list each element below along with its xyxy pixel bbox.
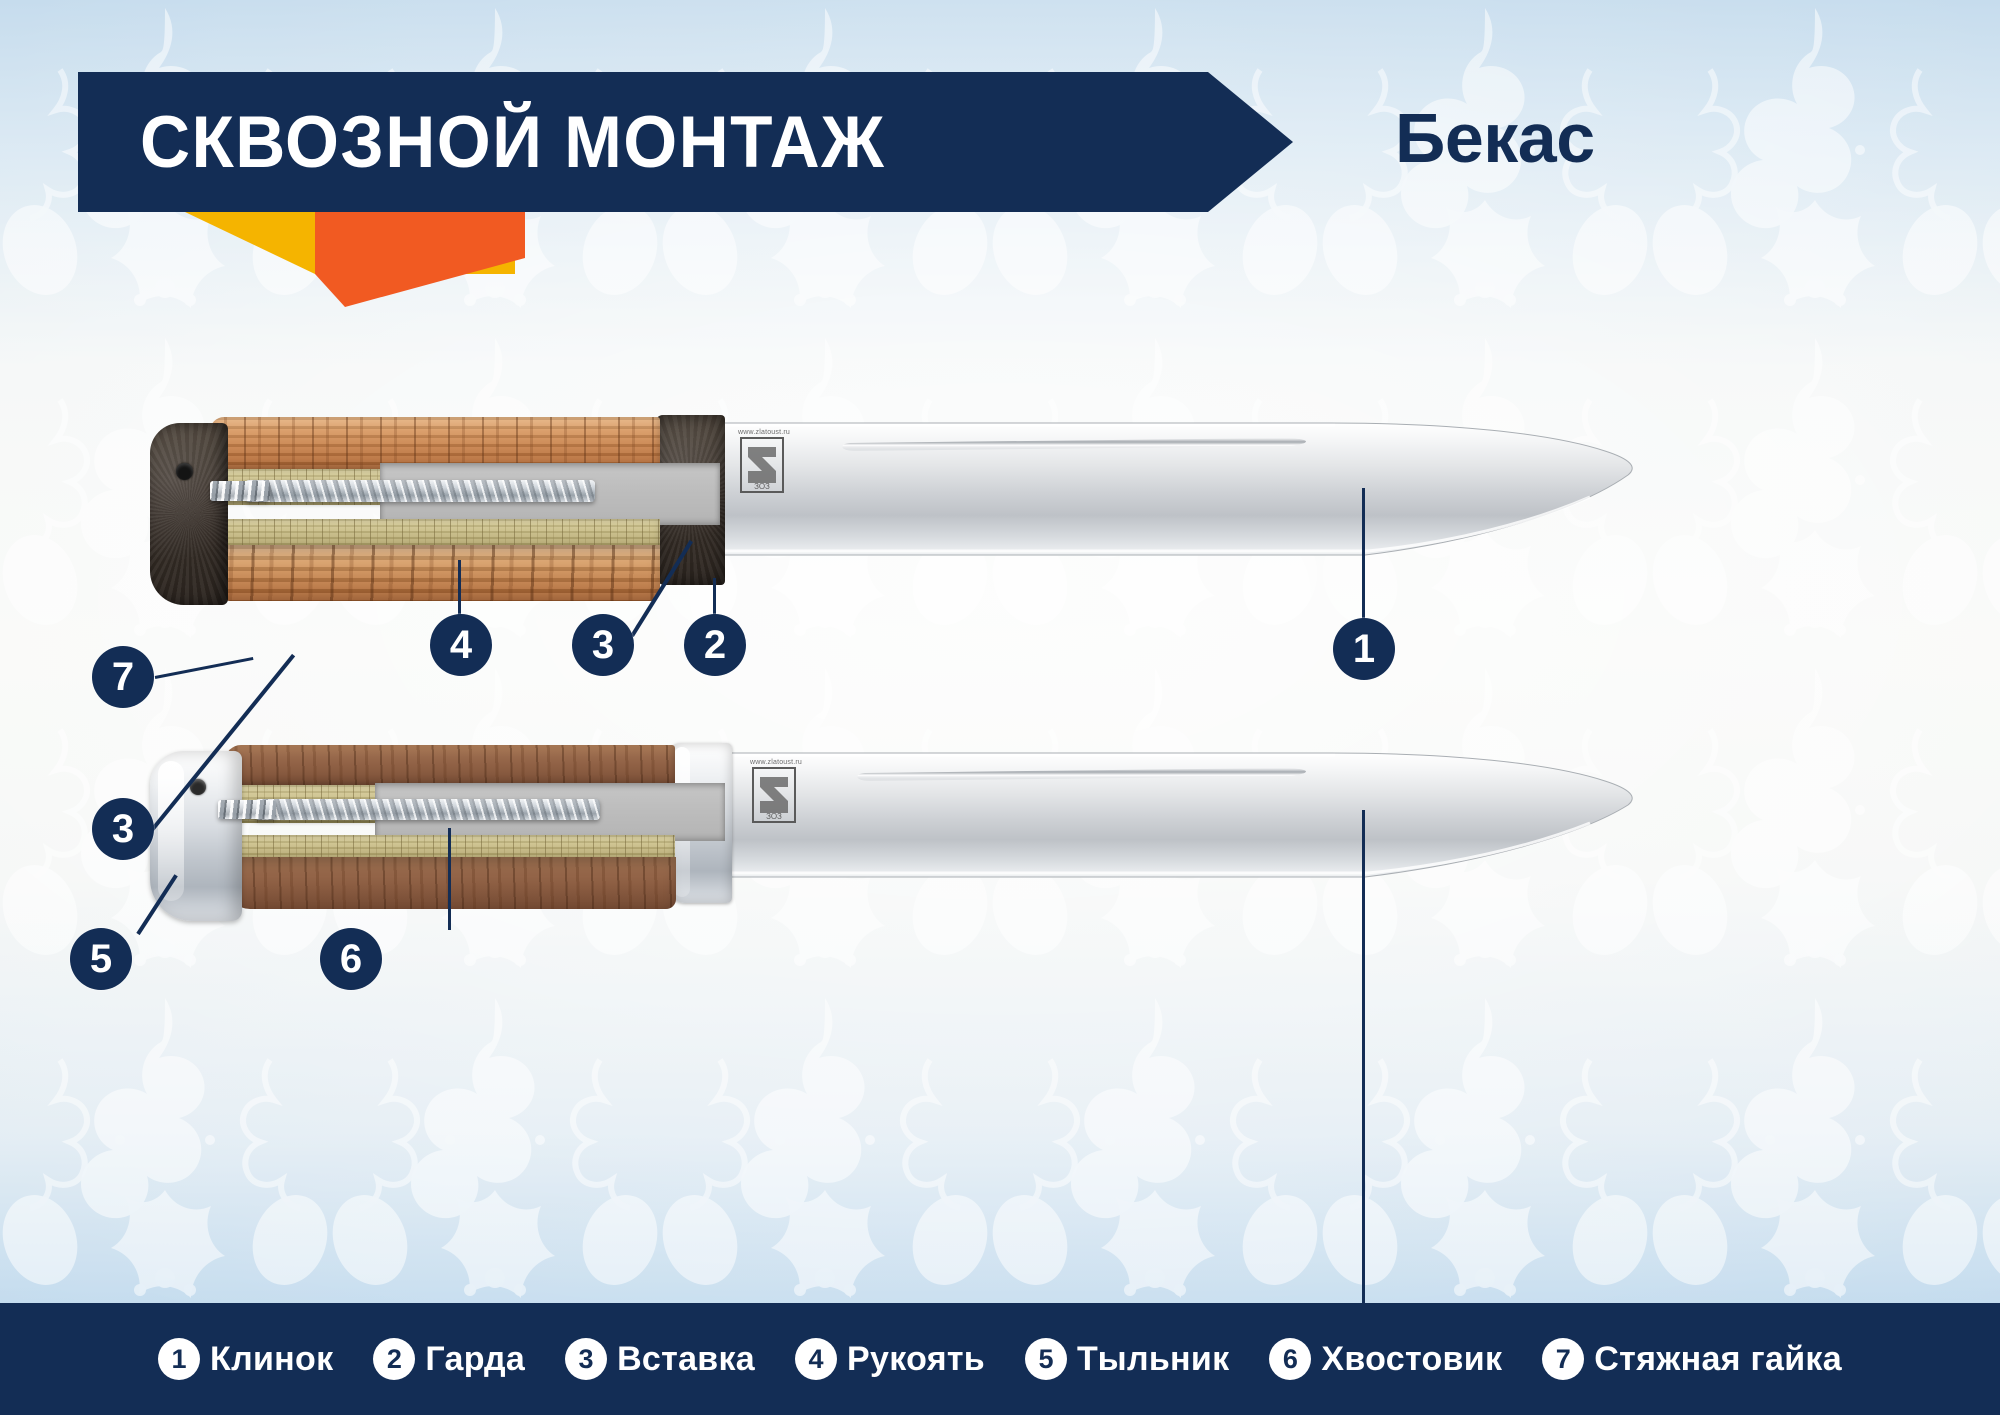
handle-bottom-lower-wood — [228, 857, 676, 909]
title-banner: СКВОЗНОЙ МОНТАЖ — [78, 72, 1293, 212]
legend-item-5[interactable]: 5 Тыльник — [1025, 1338, 1229, 1380]
legend-label-1: Клинок — [210, 1340, 333, 1379]
legend-number-1: 1 — [158, 1338, 200, 1380]
zlatoust-logo-stamp-bottom: ЗОЗ — [752, 767, 796, 823]
pommel-top — [150, 423, 228, 605]
legend-label-5: Тыльник — [1077, 1340, 1229, 1379]
blade-bottom-logo-url: www.zlatoust.ru — [750, 759, 802, 766]
callout-3-left[interactable]: 3 — [92, 798, 154, 860]
legend-label-4: Рукоять — [847, 1340, 985, 1379]
legend-number-5: 5 — [1025, 1338, 1067, 1380]
callout-3-right[interactable]: 3 — [572, 614, 634, 676]
leader-line-1-top-vert — [1362, 488, 1365, 628]
callout-6[interactable]: 6 — [320, 928, 382, 990]
handle-top-lower-bark — [212, 545, 660, 601]
tang-rod-top — [245, 480, 595, 502]
legend-item-6[interactable]: 6 Хвостовик — [1269, 1338, 1502, 1380]
legend-number-4: 4 — [795, 1338, 837, 1380]
legend-number-6: 6 — [1269, 1338, 1311, 1380]
legend-label-2: Гарда — [425, 1340, 525, 1379]
zlatoust-logo-stamp-top: ЗОЗ — [740, 437, 784, 493]
legend-number-2: 2 — [373, 1338, 415, 1380]
banner-title: СКВОЗНОЙ МОНТАЖ — [140, 101, 885, 184]
legend-bar: 1 Клинок 2 Гарда 3 Вставка 4 Рукоять 5 Т… — [0, 1303, 2000, 1415]
svg-text:ЗОЗ: ЗОЗ — [754, 482, 770, 491]
callout-7[interactable]: 7 — [92, 646, 154, 708]
legend-item-4[interactable]: 4 Рукоять — [795, 1338, 985, 1380]
leader-line-6-vert — [448, 828, 451, 930]
callout-1-top[interactable]: 1 — [1333, 618, 1395, 680]
knife-bottom: www.zlatoust.ru ЗОЗ — [150, 735, 1930, 945]
pommel-hole-top — [176, 463, 193, 480]
legend-item-1[interactable]: 1 Клинок — [158, 1338, 333, 1380]
legend-number-7: 7 — [1542, 1338, 1584, 1380]
legend-items: 1 Клинок 2 Гарда 3 Вставка 4 Рукоять 5 Т… — [118, 1338, 1882, 1380]
leader-line-4-vert — [458, 560, 461, 622]
callout-4[interactable]: 4 — [430, 614, 492, 676]
callout-5[interactable]: 5 — [70, 928, 132, 990]
brand-name: Бекас — [1395, 98, 1595, 178]
legend-label-6: Хвостовик — [1321, 1340, 1502, 1379]
legend-number-3: 3 — [565, 1338, 607, 1380]
legend-label-7: Стяжная гайка — [1594, 1340, 1842, 1379]
legend-item-2[interactable]: 2 Гарда — [373, 1338, 525, 1380]
legend-label-3: Вставка — [617, 1340, 755, 1379]
knife-top: www.zlatoust.ru ЗОЗ — [150, 405, 1930, 635]
tang-rod-bottom — [255, 799, 600, 820]
legend-item-3[interactable]: 3 Вставка — [565, 1338, 755, 1380]
leader-line-1-bottom-vert — [1362, 810, 1365, 1310]
infographic-stage: СКВОЗНОЙ МОНТАЖ Бекас — [0, 0, 2000, 1415]
tang-thread-bottom — [218, 800, 276, 819]
tang-thread-top — [210, 481, 270, 501]
svg-text:ЗОЗ: ЗОЗ — [766, 812, 782, 821]
legend-item-7[interactable]: 7 Стяжная гайка — [1542, 1338, 1842, 1380]
callout-2[interactable]: 2 — [684, 614, 746, 676]
blade-top-logo-url: www.zlatoust.ru — [738, 429, 790, 436]
